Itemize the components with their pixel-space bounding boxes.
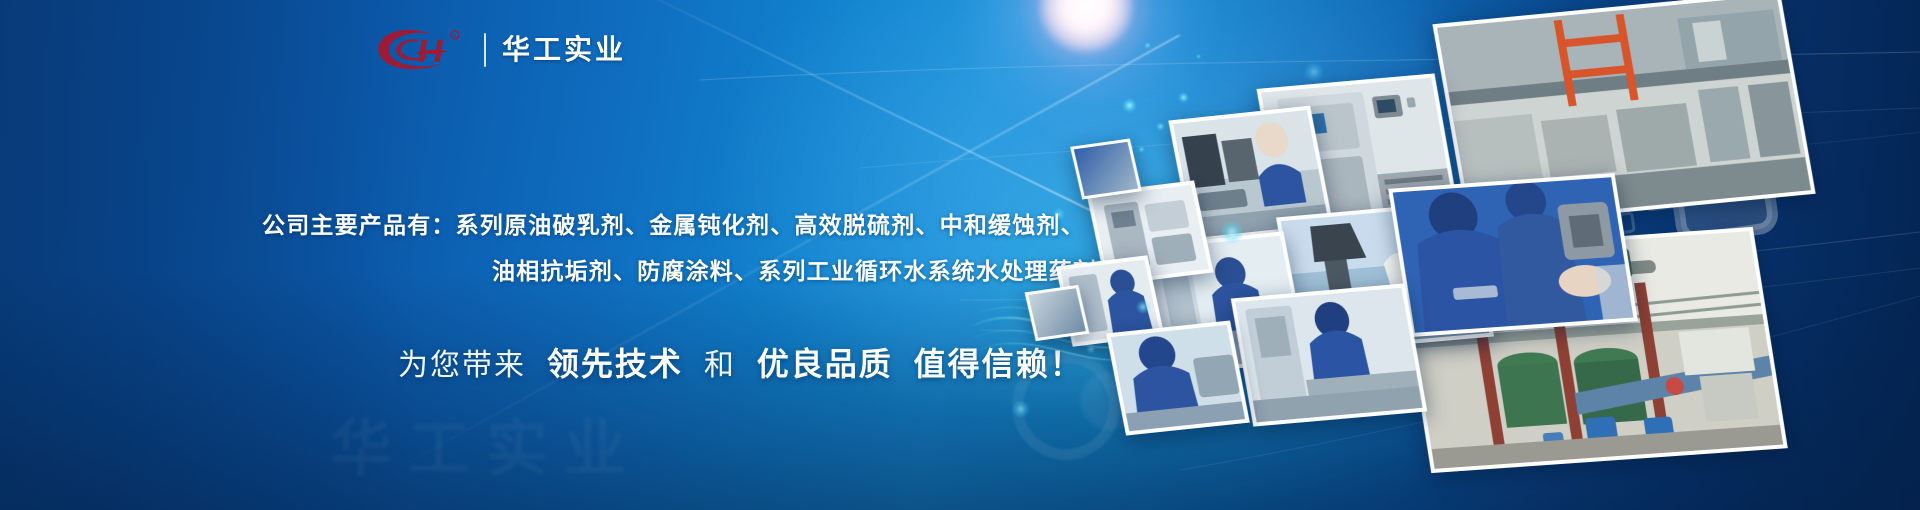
tagline-highlight2: 优良品质 (757, 346, 893, 382)
photo-operator-panel (1231, 283, 1428, 426)
photo-workshop-blue (1388, 173, 1638, 337)
bokeh-dot (1136, 300, 1150, 314)
tagline-highlight1: 领先技术 (547, 346, 683, 382)
photo-assembly-line (1106, 320, 1250, 435)
tagline-part2: 和 (704, 349, 736, 382)
photo-small-distant-1 (1070, 139, 1142, 200)
tagline-highlight3: 值得信赖！ (914, 346, 1084, 382)
photo-image (1028, 288, 1086, 338)
photo-collage (1070, 0, 1810, 510)
photo-image (1235, 288, 1422, 423)
hero-banner: 华工实业 (0, 0, 1920, 510)
bokeh-dot (1220, 220, 1244, 244)
product-intro-line: 公司主要产品有：系列原油破乳剂、金属钝化剂、高效脱硫剂、中和缓蚀剂、 (262, 206, 1085, 240)
photo-image (1074, 142, 1138, 196)
photo-image (1393, 177, 1634, 333)
photo-image (1111, 325, 1245, 431)
tagline-part1: 为您带来 (398, 349, 526, 382)
tagline: 为您带来 领先技术 和 优良品质 值得信赖！ (398, 348, 1084, 381)
photo-small-distant-2 (1025, 285, 1090, 341)
